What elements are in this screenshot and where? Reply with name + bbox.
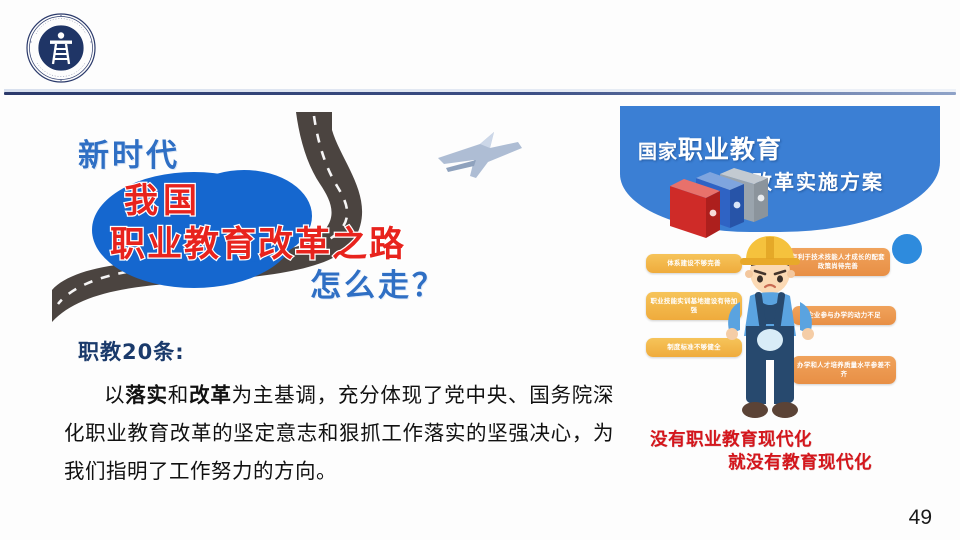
body-heading: 职教20条: [78,336,185,366]
infographic-subtitle: 改革实施方案 [752,166,884,195]
paragraph-bold-gaige: 改革 [189,383,232,407]
infographic-title-prefix: 国家 [638,142,678,163]
slogan-line-2: 就没有教育现代化 [650,451,880,474]
left-illustration: 新时代 我国 职业教育改革之路 怎么走？ [48,108,528,333]
paragraph-bold-luoshi: 落实 [125,383,168,407]
paragraph-segment-1: 以 [104,383,125,407]
header-divider-rule [4,92,956,95]
art-heading-new-era: 新时代 [78,130,180,175]
slogan-line-1: 没有职业教育现代化 [650,428,880,451]
university-crest-logo [25,12,97,84]
infographic-title-highlight: 职业教育 [678,136,782,164]
art-heading-question: 怎么走？ [310,260,446,305]
infographic-title: 国家职业教育 [638,130,782,166]
art-heading-line1: 我国 [124,173,202,222]
slide-header [0,0,960,94]
paragraph-segment-2: 和 [168,383,189,407]
body-paragraph: 以落实和改革为主基调，充分体现了党中央、国务院深化职业教育改革的坚定意志和狠抓工… [64,376,614,490]
airplane-icon [438,132,522,178]
decorative-dot-icon [892,234,922,264]
construction-worker-icon [724,230,816,430]
infographic-slogan: 没有职业教育现代化 就没有教育现代化 [650,428,880,474]
page-number: 49 [909,506,932,530]
